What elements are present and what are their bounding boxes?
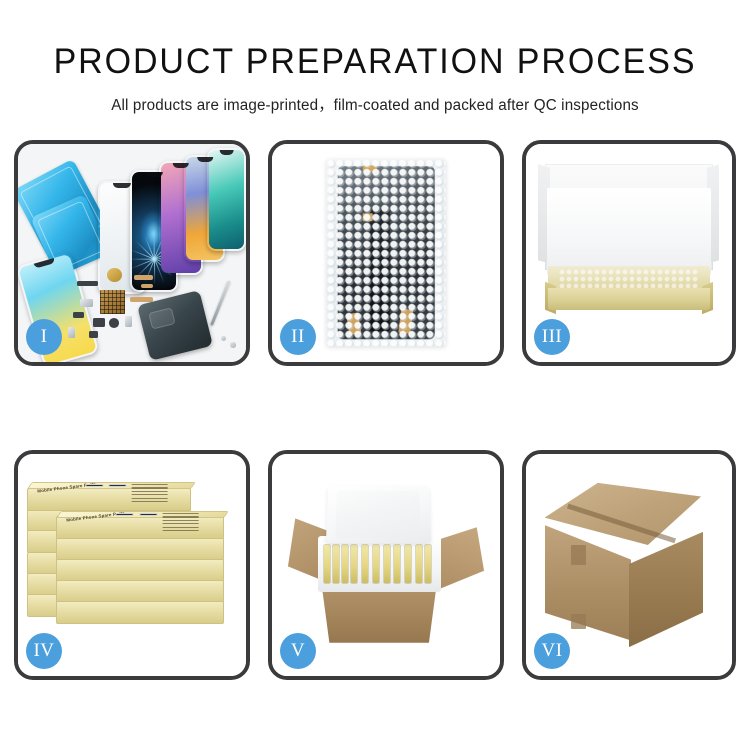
step-badge-6: VI — [534, 633, 570, 669]
yellow-boxes-inside — [324, 545, 433, 583]
flex-cable-part-c — [130, 297, 153, 302]
foam-lid — [326, 486, 431, 543]
bubble-texture-shade — [327, 159, 446, 346]
screw-part-b — [230, 342, 235, 347]
step-panel-5: V — [268, 450, 504, 680]
button-part — [68, 327, 75, 338]
step-panel-4: Mobile Phone Spare Parts Mobile Phone Sp… — [14, 450, 250, 680]
carton-flap-right — [438, 527, 484, 589]
box-stack: Mobile Phone Spare Parts Mobile Phone Sp… — [27, 481, 237, 659]
box-lid-face: Mobile Phone Spare Parts — [27, 482, 195, 489]
screw-part-a — [221, 336, 226, 341]
carton-tape-lower — [571, 614, 585, 630]
product-preparation-infographic: PRODUCT PREPARATION PROCESS All products… — [0, 0, 750, 750]
box-label-thumb — [139, 513, 157, 516]
module-part-a — [93, 318, 104, 327]
tweezers-tool — [210, 280, 231, 326]
stacked-box — [56, 537, 224, 560]
step-badge-5: V — [280, 633, 316, 669]
step-badge-3: III — [534, 319, 570, 355]
carton-left-face — [545, 525, 632, 640]
step-badge-4: IV — [26, 633, 62, 669]
bracket-part-a — [80, 299, 94, 308]
bracket-part-b — [73, 312, 84, 319]
box-label-thumb — [116, 513, 134, 516]
step-badge-2: II — [280, 319, 316, 355]
flex-cable-part-b — [141, 284, 152, 289]
bubble-wrap-package — [327, 159, 446, 346]
box-front-panel — [548, 288, 711, 310]
box-lid-face: Mobile Phone Spare Parts — [56, 511, 229, 518]
box-label-lines — [163, 513, 199, 533]
page-title: PRODUCT PREPARATION PROCESS — [11, 44, 739, 79]
carton-tape-upper — [571, 545, 585, 565]
stacked-box — [56, 559, 224, 582]
step-panel-2: II — [268, 140, 504, 366]
process-steps-grid: I II — [0, 136, 750, 736]
foam-sheet — [547, 188, 712, 275]
box-label-lines — [131, 485, 167, 505]
camera-part — [89, 331, 98, 338]
step-panel-1: I — [14, 140, 250, 366]
vibrator-part — [109, 318, 119, 328]
stacked-box — [56, 580, 224, 603]
stacked-box-printed-back: Mobile Phone Spare Parts — [27, 488, 191, 511]
connector-bar-part — [77, 281, 98, 285]
step-badge-1: I — [26, 319, 62, 355]
phone-screen-teal — [207, 148, 246, 250]
sim-tray-part — [125, 316, 132, 327]
stacked-box-printed-front: Mobile Phone Spare Parts — [56, 516, 224, 539]
header: PRODUCT PREPARATION PROCESS All products… — [0, 0, 750, 115]
carton-right-face — [629, 532, 703, 647]
step-panel-6: VI — [522, 450, 736, 680]
stacked-box — [56, 601, 224, 624]
flex-cable-part-a — [134, 275, 152, 281]
step-panel-3: III — [522, 140, 736, 366]
chip-array-part — [100, 290, 125, 314]
page-subtitle: All products are image-printed，film-coat… — [8, 93, 743, 115]
box-label-thumb — [108, 485, 126, 488]
